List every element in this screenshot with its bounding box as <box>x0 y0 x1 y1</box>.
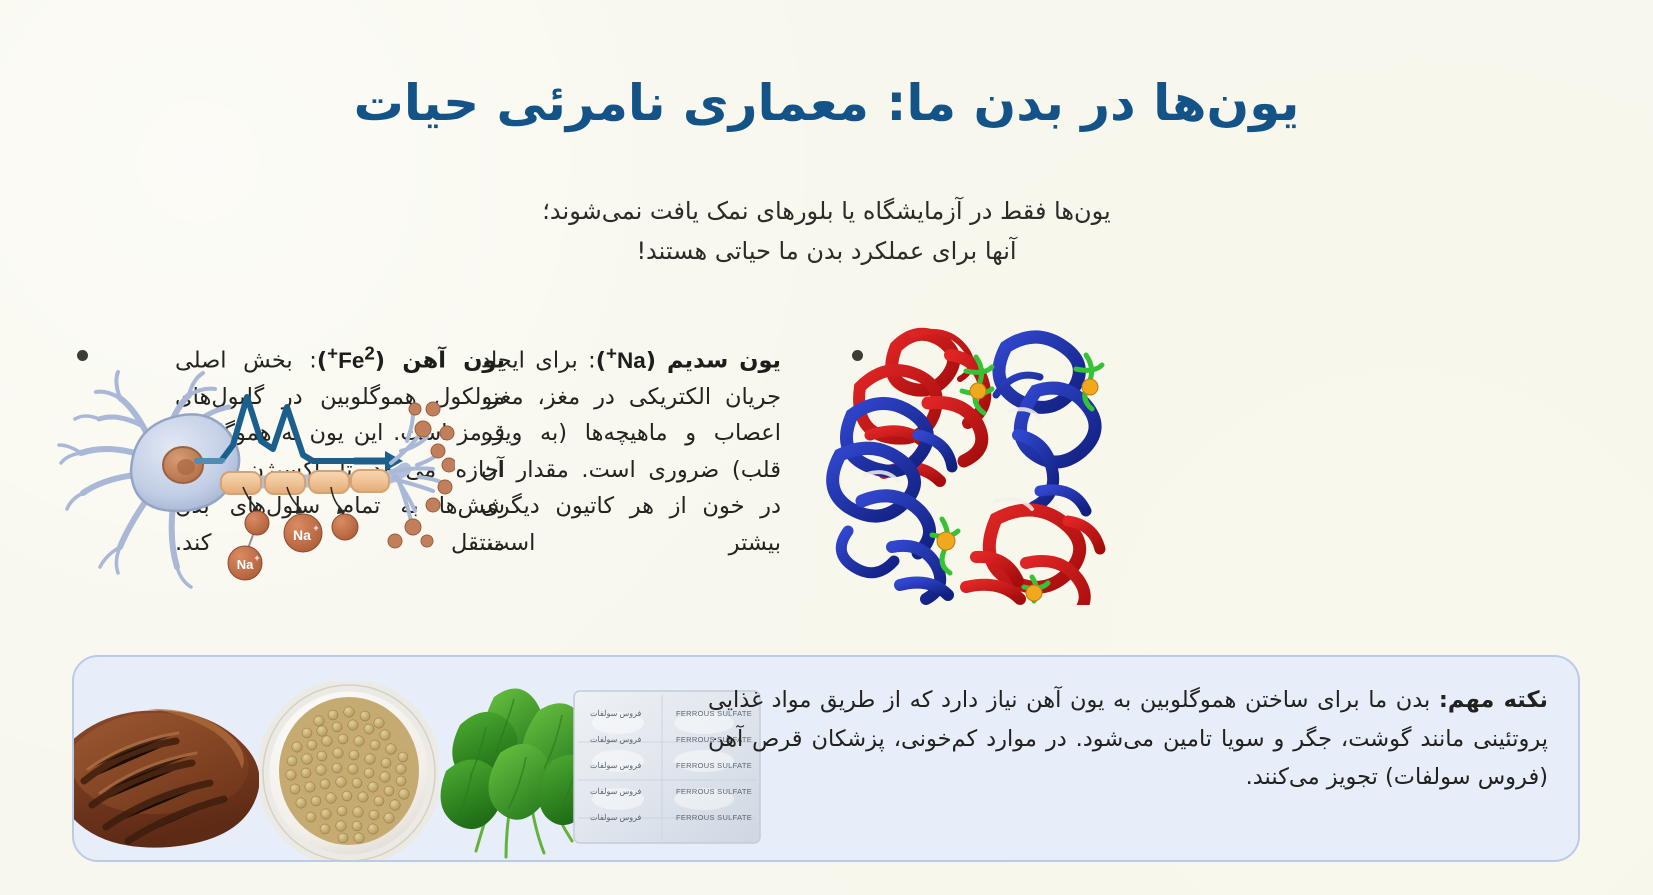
svg-text:Na: Na <box>237 557 254 572</box>
bullet-point-sodium <box>852 350 863 361</box>
page-title: یون‌ها در بدن ما: معماری نامرئی حیات <box>0 72 1653 135</box>
sodium-ion-description: یون سدیم (Na+): برای ایجاد جریان الکتریک… <box>481 338 781 561</box>
grilled-steak-image <box>72 689 282 854</box>
svg-text:Na: Na <box>293 527 311 543</box>
svg-text:+: + <box>313 523 318 533</box>
blister-label-fa-5: فروس سولفات <box>590 813 641 822</box>
subtitle-line-2: آنها برای عملکرد بدن ما حیاتی هستند! <box>0 232 1653 272</box>
sodium-ion-label: یون سدیم <box>667 348 781 374</box>
neuron-action-potential-diagram: Na + Na + <box>55 345 455 595</box>
sodium-formula-charge: + <box>606 342 617 363</box>
page-subtitle: یون‌ها فقط در آزمایشگاه یا بلورهای نمک ی… <box>0 192 1653 271</box>
infographic-slide: یون‌ها در بدن ما: معماری نامرئی حیات یون… <box>0 0 1653 895</box>
important-note-body: بدن ما برای ساختن هموگلوبین به یون آهن ن… <box>708 687 1548 790</box>
important-note-text: نکته مهم: بدن ما برای ساختن هموگلوبین به… <box>708 681 1548 797</box>
subtitle-line-1: یون‌ها فقط در آزمایشگاه یا بلورهای نمک ی… <box>0 192 1653 232</box>
important-note-label: نکته مهم: <box>1439 687 1548 713</box>
blister-label-fa-3: فروس سولفات <box>590 761 641 770</box>
blister-label-fa-1: فروس سولفات <box>590 709 641 718</box>
blister-label-fa-2: فروس سولفات <box>590 735 641 744</box>
sodium-formula-element: Na <box>617 348 646 373</box>
hemoglobin-ribbon-structure <box>800 295 1120 605</box>
important-note-box: FERROUS SULFATE FERROUS SULFATE FERROUS … <box>72 655 1580 862</box>
sodium-ion-body: : برای ایجاد جریان الکتریکی در مغز، مغز،… <box>481 348 781 556</box>
iron-food-sources-images: FERROUS SULFATE FERROUS SULFATE FERROUS … <box>74 657 764 862</box>
blister-label-en-5: FERROUS SULFATE <box>676 813 752 822</box>
blister-label-fa-4: فروس سولفات <box>590 787 641 796</box>
soybean-bowl-image <box>259 681 439 861</box>
svg-text:+: + <box>254 553 259 563</box>
